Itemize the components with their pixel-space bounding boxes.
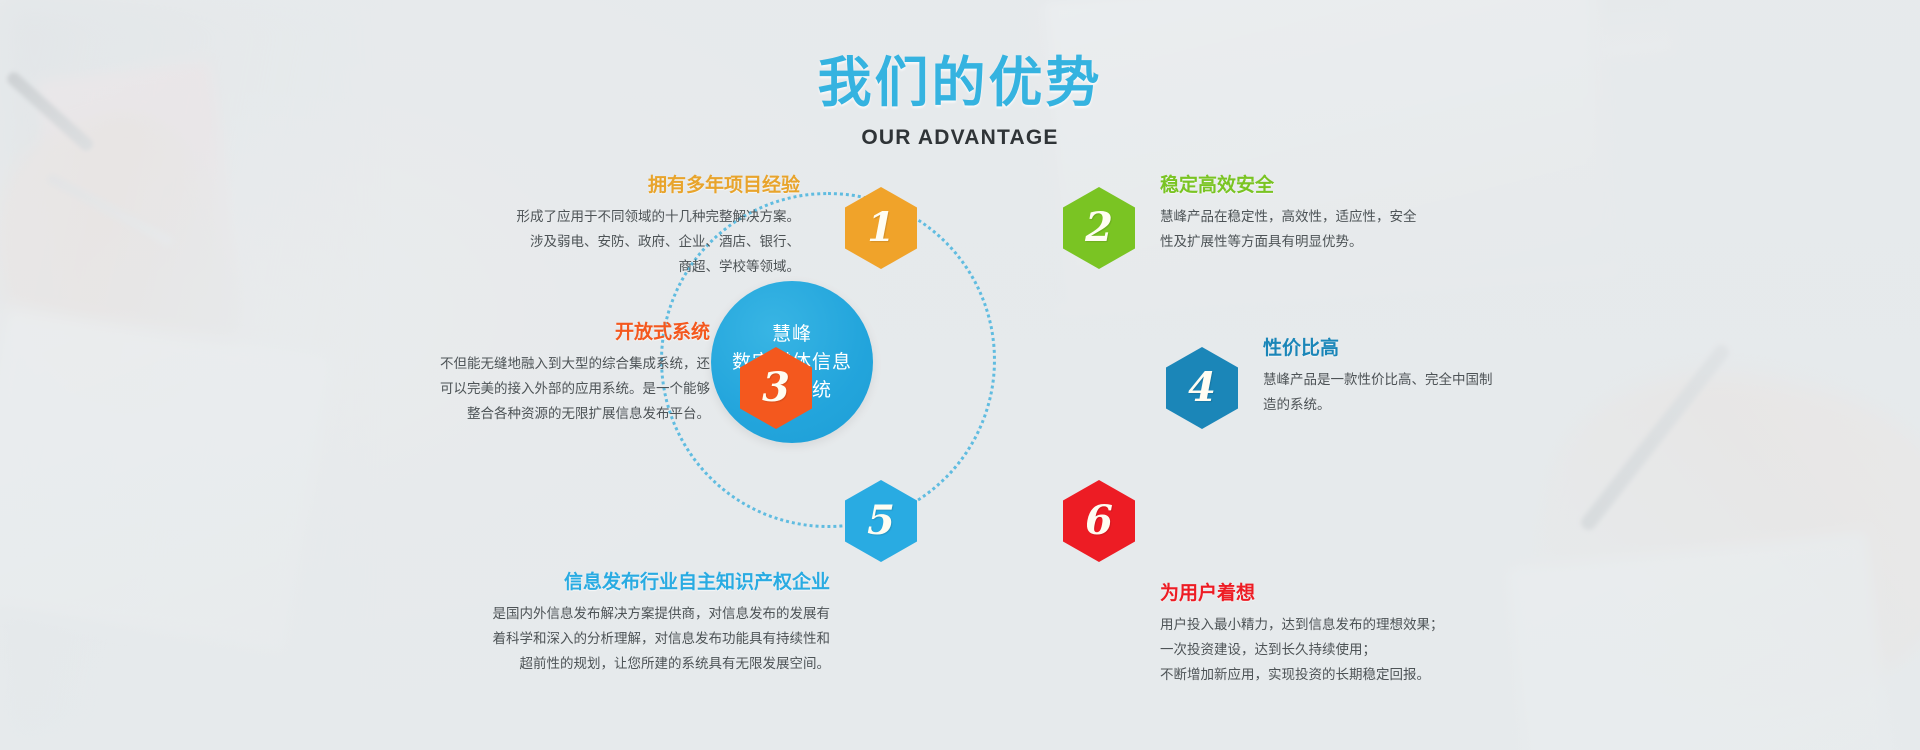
advantage-item-4-body: 慧峰产品是一款性价比高、完全中国制造的系统。: [1263, 368, 1683, 418]
advantage-item-2-line: 慧峰产品在稳定性，高效性，适应性，安全: [1160, 205, 1580, 230]
advantage-item-4-line: 造的系统。: [1263, 393, 1683, 418]
hex-badge-6-number: 6: [1085, 497, 1113, 544]
advantage-item-1-body: 形成了应用于不同领域的十几种完整解决方案。涉及弱电、安防、政府、企业、酒店、银行…: [380, 205, 800, 280]
advantage-item-1-title: 拥有多年项目经验: [380, 170, 800, 197]
advantage-item-5: 信息发布行业自主知识产权企业 是国内外信息发布解决方案提供商，对信息发布的发展有…: [380, 567, 830, 677]
advantage-item-5-line: 着科学和深入的分析理解，对信息发布功能具有持续性和: [380, 627, 830, 652]
advantage-item-3: 开放式系统 不但能无缝地融入到大型的综合集成系统，还可以完美的接入外部的应用系统…: [290, 317, 710, 427]
advantage-item-1-line: 形成了应用于不同领域的十几种完整解决方案。: [380, 205, 800, 230]
advantage-item-3-line: 不但能无缝地融入到大型的综合集成系统，还: [290, 352, 710, 377]
hex-badge-3-number: 3: [762, 364, 790, 411]
advantage-item-4-line: 慧峰产品是一款性价比高、完全中国制: [1263, 368, 1683, 393]
advantage-item-2: 稳定高效安全 慧峰产品在稳定性，高效性，适应性，安全性及扩展性等方面具有明显优势…: [1160, 170, 1580, 255]
advantage-item-5-title: 信息发布行业自主知识产权企业: [380, 567, 830, 594]
advantage-item-1: 拥有多年项目经验 形成了应用于不同领域的十几种完整解决方案。涉及弱电、安防、政府…: [380, 170, 800, 280]
advantage-item-1-line: 涉及弱电、安防、政府、企业、酒店、银行、: [380, 230, 800, 255]
center-line-1: 慧峰: [772, 320, 812, 348]
advantage-item-6-line: 用户投入最小精力，达到信息发布的理想效果；: [1160, 613, 1610, 638]
hex-badge-5-number: 5: [867, 497, 895, 544]
hex-badge-2[interactable]: 2: [1063, 187, 1135, 269]
advantage-item-5-body: 是国内外信息发布解决方案提供商，对信息发布的发展有着科学和深入的分析理解，对信息…: [380, 602, 830, 677]
advantage-item-4: 性价比高 慧峰产品是一款性价比高、完全中国制造的系统。: [1263, 333, 1683, 418]
advantage-item-6-line: 不断增加新应用，实现投资的长期稳定回报。: [1160, 663, 1610, 688]
advantage-item-5-line: 超前性的规划，让您所建的系统具有无限发展空间。: [380, 652, 830, 677]
hex-badge-4-number: 4: [1188, 364, 1216, 411]
advantage-item-2-body: 慧峰产品在稳定性，高效性，适应性，安全性及扩展性等方面具有明显优势。: [1160, 205, 1580, 255]
page-title-cn: 我们的优势: [0, 38, 1920, 117]
advantage-item-3-title: 开放式系统: [290, 317, 710, 344]
advantage-item-5-line: 是国内外信息发布解决方案提供商，对信息发布的发展有: [380, 602, 830, 627]
hex-badge-1-number: 1: [867, 204, 895, 251]
advantage-item-6-body: 用户投入最小精力，达到信息发布的理想效果；一次投资建设，达到长久持续使用；不断增…: [1160, 613, 1610, 688]
page-title-en: OUR ADVANTAGE: [0, 126, 1920, 150]
advantage-item-6-line: 一次投资建设，达到长久持续使用；: [1160, 638, 1610, 663]
hex-badge-6[interactable]: 6: [1063, 480, 1135, 562]
advantage-item-2-title: 稳定高效安全: [1160, 170, 1580, 197]
advantage-item-3-body: 不但能无缝地融入到大型的综合集成系统，还可以完美的接入外部的应用系统。是一个能够…: [290, 352, 710, 427]
advantage-item-1-line: 商超、学校等领域。: [380, 255, 800, 280]
advantage-item-4-title: 性价比高: [1263, 333, 1683, 360]
advantage-item-3-line: 整合各种资源的无限扩展信息发布平台。: [290, 402, 710, 427]
advantage-item-6-title: 为用户着想: [1160, 578, 1610, 605]
advantage-item-2-line: 性及扩展性等方面具有明显优势。: [1160, 230, 1580, 255]
advantage-item-3-line: 可以完美的接入外部的应用系统。是一个能够: [290, 377, 710, 402]
page-heading: 我们的优势 OUR ADVANTAGE: [0, 38, 1920, 150]
advantage-item-6: 为用户着想 用户投入最小精力，达到信息发布的理想效果；一次投资建设，达到长久持续…: [1160, 578, 1610, 688]
hex-badge-2-number: 2: [1085, 204, 1113, 251]
hex-badge-4[interactable]: 4: [1166, 347, 1238, 429]
